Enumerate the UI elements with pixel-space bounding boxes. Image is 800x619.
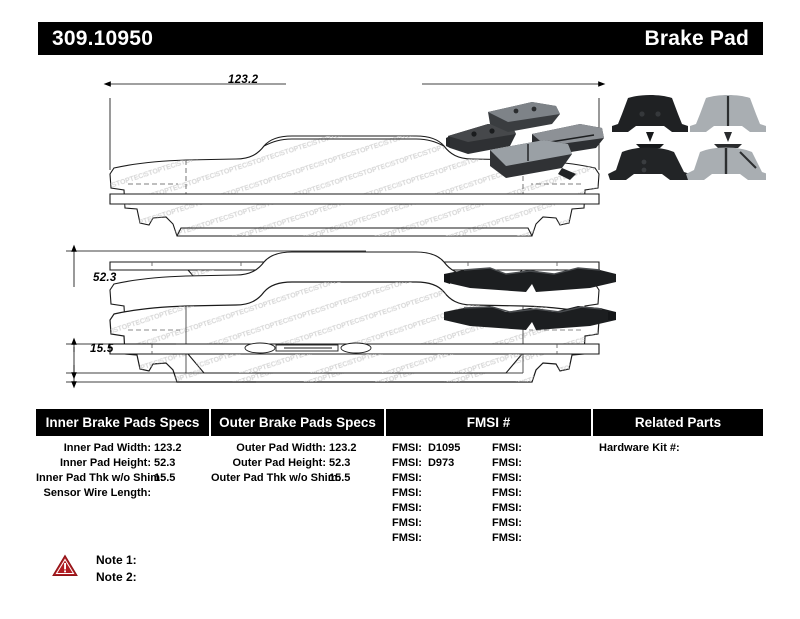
fmsi-label: FMSI: <box>492 486 528 501</box>
spec-label: Outer Pad Height: <box>211 456 329 471</box>
related-part-row: Hardware Kit #: <box>593 441 763 456</box>
brake-pad-photo-flat-set <box>606 92 766 184</box>
related-part-label: Hardware Kit #: <box>599 442 680 454</box>
note-2: Note 2: <box>96 569 137 586</box>
column-header-related-parts: Related Parts <box>593 409 763 436</box>
fmsi-value: D973 <box>428 456 454 471</box>
outer-specs-cell: Outer Pad Width: 123.2 Outer Pad Height:… <box>211 441 386 546</box>
table-body: Inner Pad Width: 123.2 Inner Pad Height:… <box>36 436 763 546</box>
fmsi-row: FMSI: <box>492 441 592 456</box>
fmsi-row: FMSI: <box>392 501 492 516</box>
spec-row: Inner Pad Width: 123.2 <box>36 441 211 456</box>
inner-specs-cell: Inner Pad Width: 123.2 Inner Pad Height:… <box>36 441 211 546</box>
spec-value: 52.3 <box>154 456 175 471</box>
brake-pad-photo-edge-pair <box>440 262 620 344</box>
technical-drawing-area: STOPTECH <box>36 62 763 392</box>
column-header-outer-specs: Outer Brake Pads Specs <box>211 409 386 436</box>
spec-value: 123.2 <box>154 441 182 456</box>
spec-value: 52.3 <box>329 456 350 471</box>
fmsi-row: FMSI: <box>392 486 492 501</box>
fmsi-row: FMSI: <box>492 486 592 501</box>
fmsi-row: FMSI: D1095 <box>392 441 492 456</box>
notes-section: Note 1: Note 2: <box>52 552 137 586</box>
fmsi-row: FMSI: <box>392 471 492 486</box>
fmsi-label: FMSI: <box>392 456 428 471</box>
spec-value: 15.5 <box>154 471 175 486</box>
spec-value: 123.2 <box>329 441 357 456</box>
specifications-table: Inner Brake Pads Specs Outer Brake Pads … <box>36 409 763 546</box>
fmsi-row: FMSI: <box>392 531 492 546</box>
notes-text-block: Note 1: Note 2: <box>96 552 137 586</box>
fmsi-label: FMSI: <box>392 441 428 456</box>
fmsi-label: FMSI: <box>392 486 428 501</box>
fmsi-cell: FMSI: D1095 FMSI: D973 FMSI: FMSI: <box>386 441 593 546</box>
dimension-width-label: 123.2 <box>228 74 258 86</box>
fmsi-column-right: FMSI: FMSI: FMSI: FMSI: <box>492 441 592 546</box>
fmsi-row: FMSI: <box>492 531 592 546</box>
spec-label: Inner Pad Thk w/o Shim: <box>36 471 154 486</box>
fmsi-label: FMSI: <box>392 516 428 531</box>
column-header-fmsi: FMSI # <box>386 409 593 436</box>
spec-row: Sensor Wire Length: <box>36 486 211 501</box>
fmsi-label: FMSI: <box>492 501 528 516</box>
dimension-thickness-label: 15.5 <box>90 343 114 355</box>
spec-value: 15.5 <box>329 471 350 486</box>
fmsi-label: FMSI: <box>492 516 528 531</box>
note-1: Note 1: <box>96 552 137 569</box>
spec-row: Outer Pad Thk w/o Shim: 15.5 <box>211 471 386 486</box>
spec-row: Outer Pad Width: 123.2 <box>211 441 386 456</box>
spec-label: Inner Pad Height: <box>36 456 154 471</box>
spec-label: Outer Pad Width: <box>211 441 329 456</box>
fmsi-label: FMSI: <box>392 471 428 486</box>
fmsi-row: FMSI: <box>492 456 592 471</box>
fmsi-row: FMSI: <box>492 516 592 531</box>
spec-label: Sensor Wire Length: <box>36 486 154 501</box>
fmsi-row: FMSI: <box>492 471 592 486</box>
brake-pad-photo-angled-set <box>444 94 604 184</box>
column-header-inner-specs: Inner Brake Pads Specs <box>36 409 211 436</box>
fmsi-value: D1095 <box>428 441 460 456</box>
fmsi-label: FMSI: <box>492 441 528 456</box>
fmsi-label: FMSI: <box>492 456 528 471</box>
related-parts-cell: Hardware Kit #: <box>593 441 763 546</box>
fmsi-label: FMSI: <box>492 471 528 486</box>
title-bar: 309.10950 Brake Pad <box>38 22 763 55</box>
spec-label: Outer Pad Thk w/o Shim: <box>211 471 329 486</box>
fmsi-row: FMSI: <box>392 516 492 531</box>
dimension-height-label: 52.3 <box>93 272 117 284</box>
spec-row: Inner Pad Thk w/o Shim: 15.5 <box>36 471 211 486</box>
spec-label: Inner Pad Width: <box>36 441 154 456</box>
fmsi-row: FMSI: <box>492 501 592 516</box>
warning-triangle-icon <box>52 554 78 577</box>
spec-row: Outer Pad Height: 52.3 <box>211 456 386 471</box>
fmsi-label: FMSI: <box>392 531 428 546</box>
product-type: Brake Pad <box>644 27 749 51</box>
part-number: 309.10950 <box>52 27 153 51</box>
fmsi-label: FMSI: <box>492 531 528 546</box>
fmsi-row: FMSI: D973 <box>392 456 492 471</box>
spec-row: Inner Pad Height: 52.3 <box>36 456 211 471</box>
fmsi-column-left: FMSI: D1095 FMSI: D973 FMSI: FMSI: <box>392 441 492 546</box>
fmsi-label: FMSI: <box>392 501 428 516</box>
table-header-row: Inner Brake Pads Specs Outer Brake Pads … <box>36 409 763 436</box>
